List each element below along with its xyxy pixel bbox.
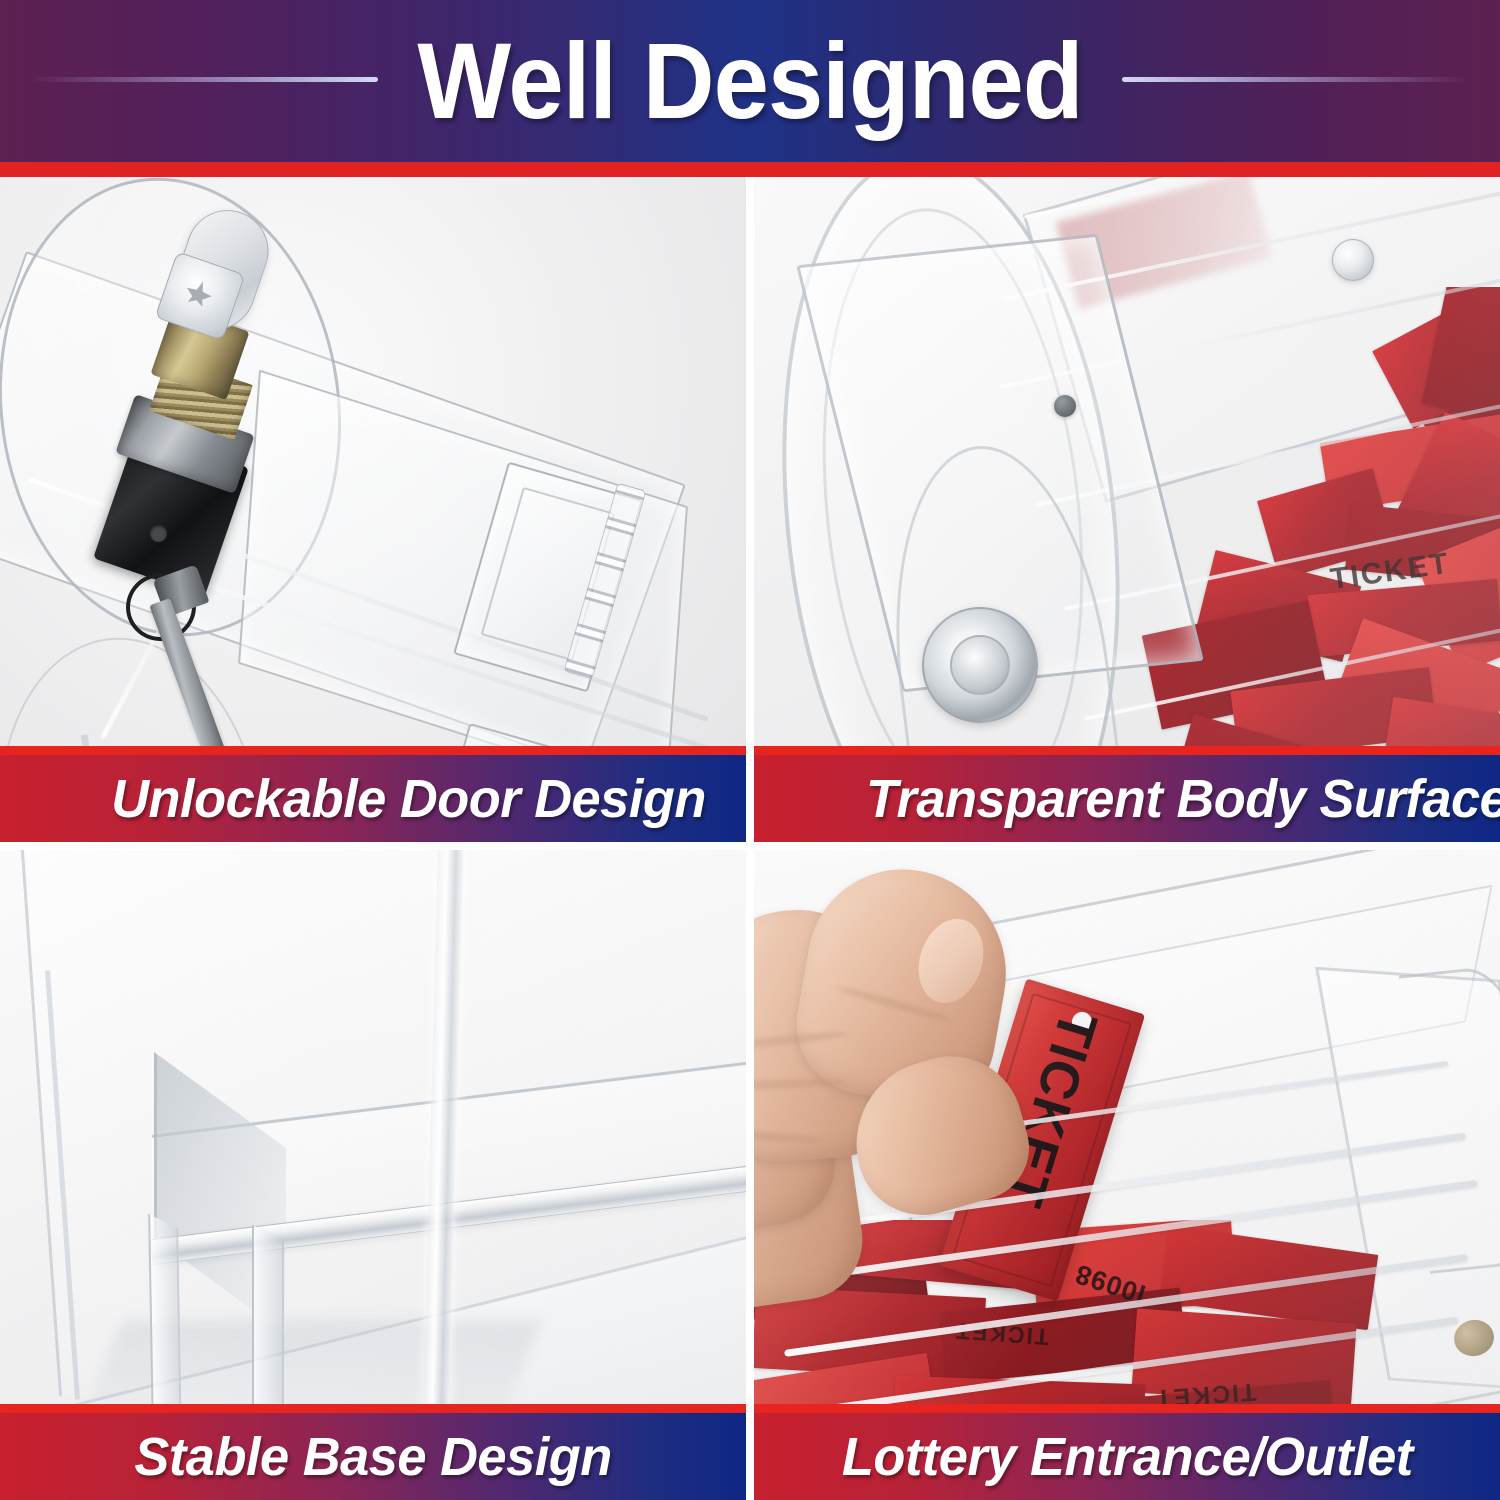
photo-unlockable-door: [0, 177, 746, 842]
feature-panel-transparent-body: TICKET Trans: [754, 177, 1500, 842]
feature-panel-stable-base: Stable Base Design: [0, 850, 746, 1500]
caption-gradient-body: Transparent Body Surface: [754, 755, 1500, 842]
caption-top-stripe: [754, 746, 1500, 755]
caption-bar-unlockable-door: Unlockable Door Design: [0, 746, 746, 842]
caption-label: Stable Base Design: [134, 1430, 611, 1484]
drum-pin: [1054, 395, 1076, 417]
hand: [754, 850, 1114, 1290]
drum-bearing-inner: [950, 635, 1010, 695]
drum-knob: [1332, 239, 1374, 281]
photo-lottery-entrance-outlet: TICKET TICKET TICKET TICKET I0098: [754, 850, 1500, 1500]
caption-bar-lottery-entrance-outlet: Lottery Entrance/Outlet: [754, 1404, 1500, 1500]
caption-gradient-body: Unlockable Door Design: [0, 755, 746, 842]
feature-grid: Unlockable Door Design: [0, 177, 1500, 1500]
header-red-divider: [0, 162, 1500, 177]
feature-panel-lottery-entrance-outlet: TICKET TICKET TICKET TICKET I0098: [754, 850, 1500, 1500]
caption-label: Lottery Entrance/Outlet: [842, 1430, 1413, 1484]
caption-bar-stable-base: Stable Base Design: [0, 1404, 746, 1500]
caption-gradient-body: Stable Base Design: [0, 1413, 746, 1500]
page-title: Well Designed: [60, 0, 1440, 162]
caption-label: Unlockable Door Design: [111, 772, 706, 826]
photo-transparent-body: TICKET: [754, 177, 1500, 842]
photo-stable-base: [0, 850, 746, 1500]
header-banner: Well Designed: [0, 0, 1500, 162]
caption-label: Transparent Body Surface: [866, 772, 1500, 826]
caption-gradient-body: Lottery Entrance/Outlet: [754, 1413, 1500, 1500]
caption-top-stripe: [754, 1404, 1500, 1413]
infographic-page: Well Designed: [0, 0, 1500, 1500]
lock-bracket-hole: [150, 525, 167, 542]
caption-top-stripe: [0, 1404, 746, 1413]
caption-top-stripe: [0, 746, 746, 755]
caption-bar-transparent-body: Transparent Body Surface: [754, 746, 1500, 842]
feature-panel-unlockable-door: Unlockable Door Design: [0, 177, 746, 842]
